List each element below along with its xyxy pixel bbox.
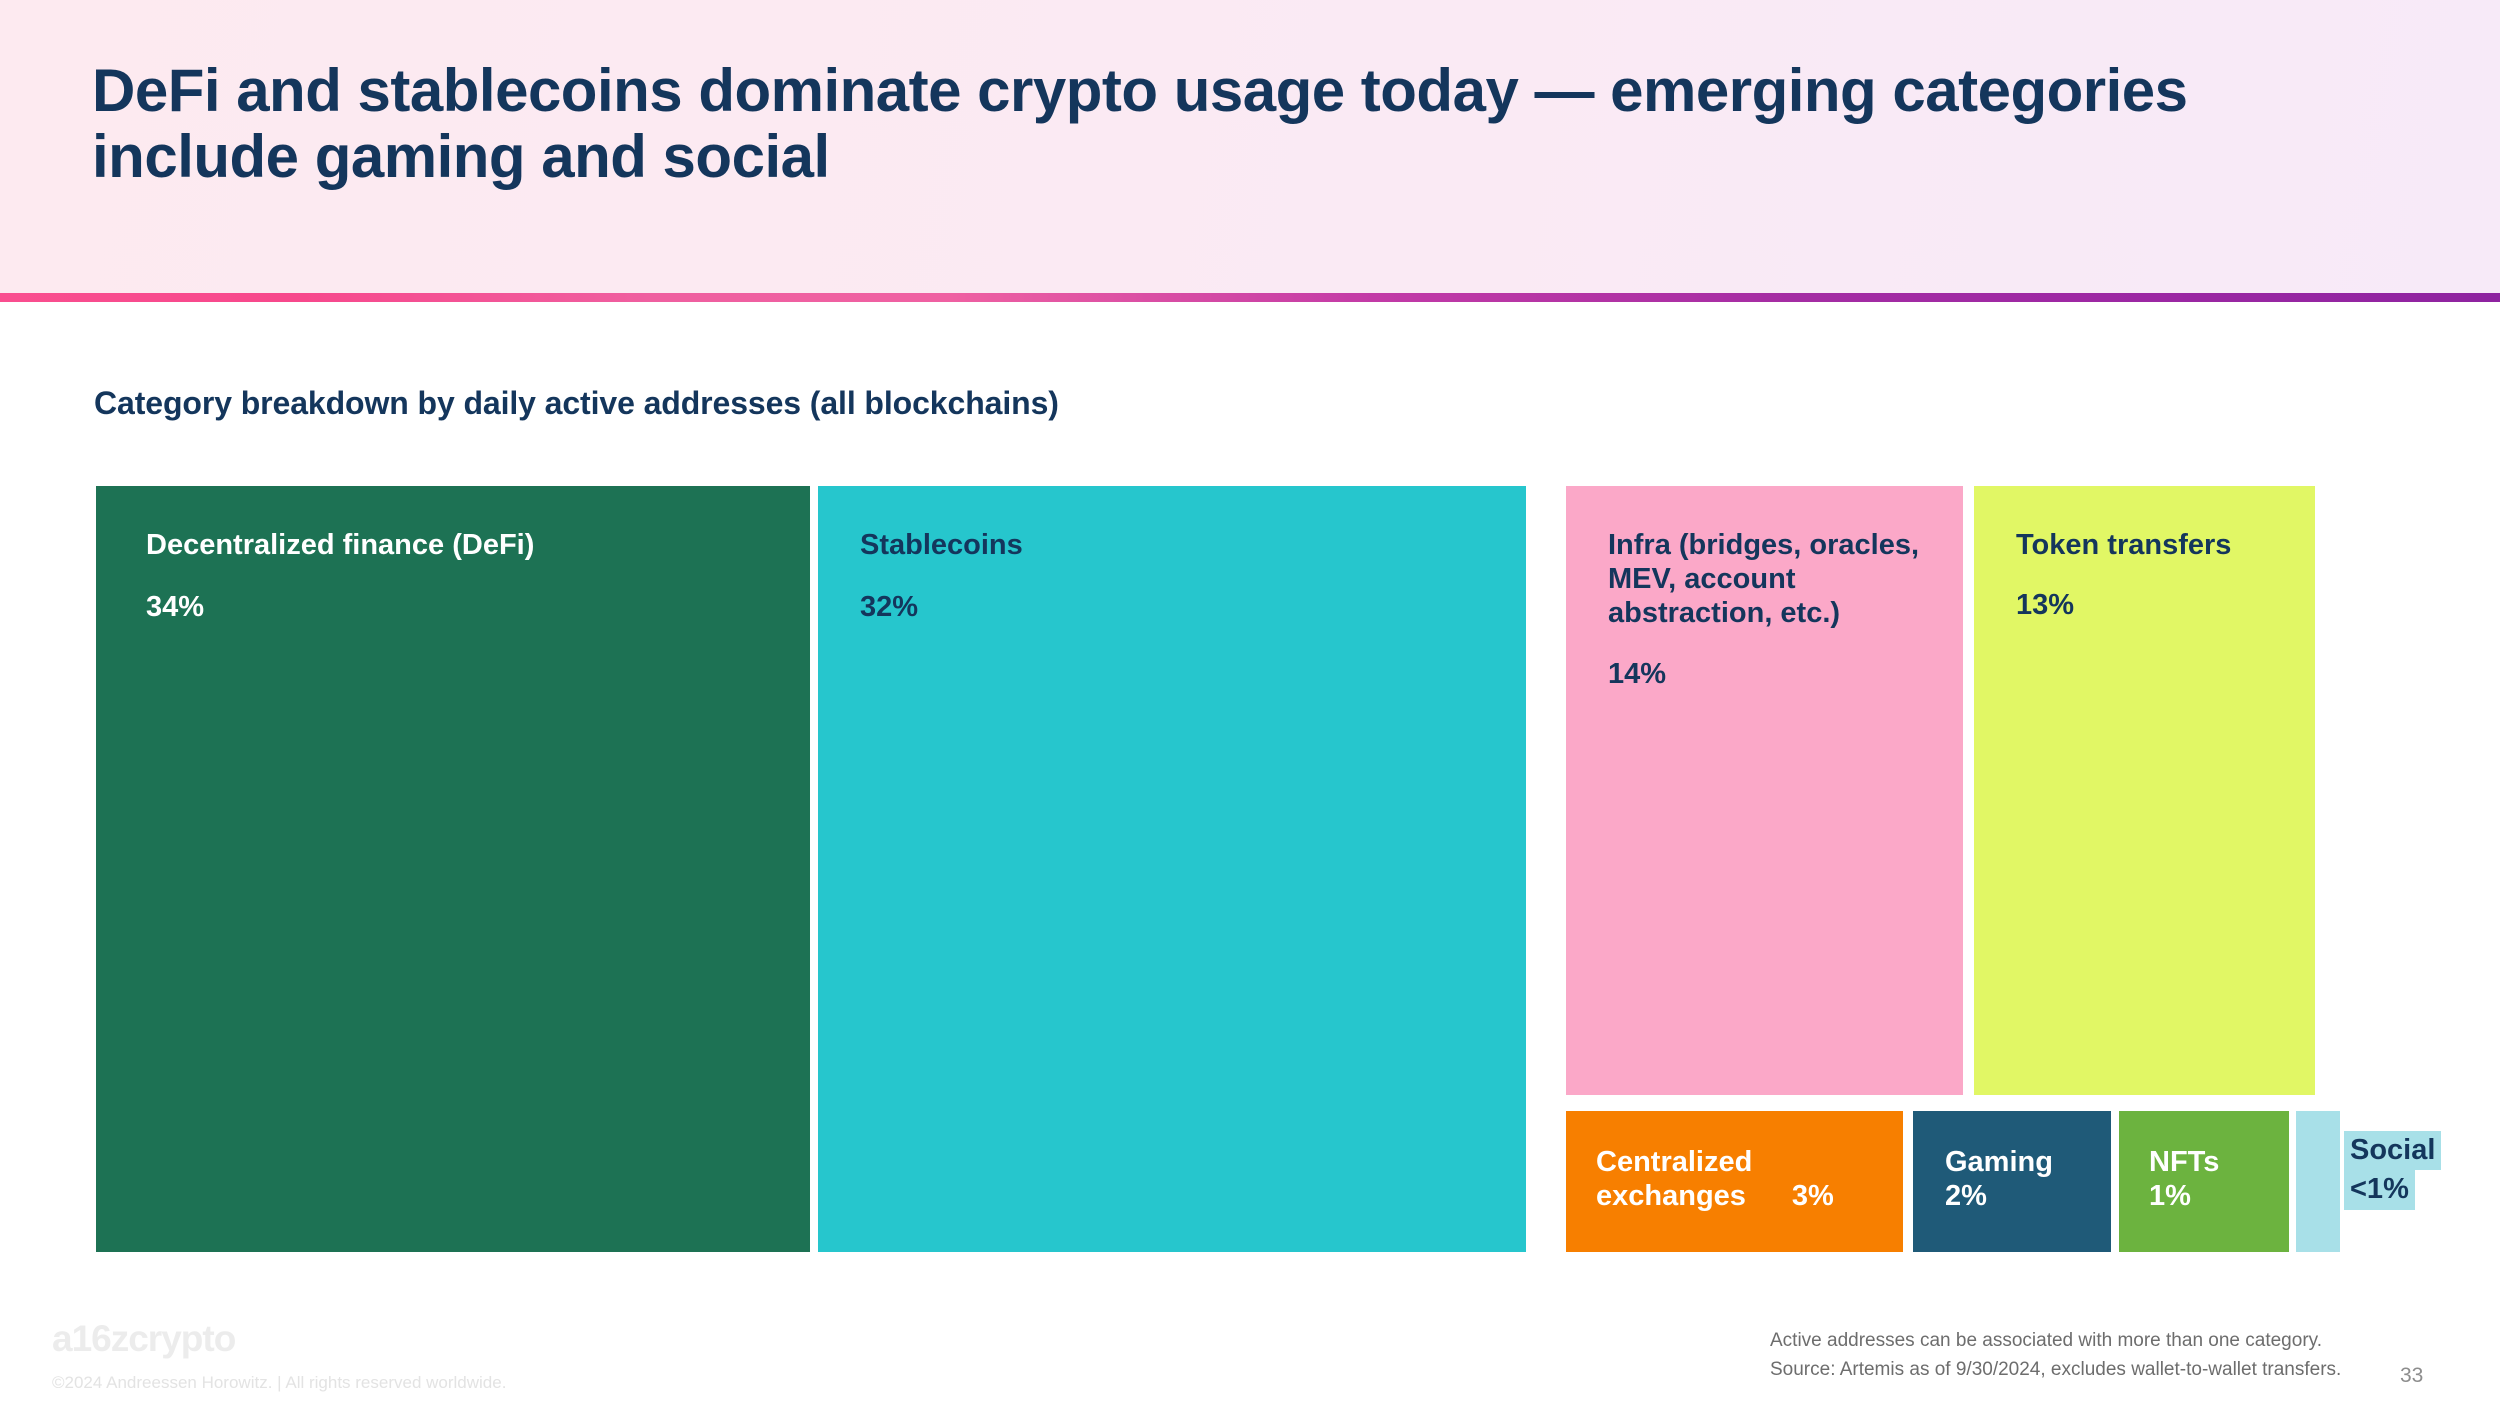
slide-header: DeFi and stablecoins dominate crypto usa…: [0, 0, 2500, 293]
treemap-tile-stablecoins[interactable]: Stablecoins 32%: [818, 486, 1526, 1252]
chart-subtitle: Category breakdown by daily active addre…: [94, 385, 1059, 422]
treemap-chart: Decentralized finance (DeFi) 34% Stablec…: [96, 486, 2315, 1252]
tile-value: 3%: [1792, 1179, 1834, 1213]
tile-value: 13%: [2016, 588, 2255, 622]
header-accent-divider: [0, 293, 2500, 302]
page-number: 33: [2400, 1364, 2423, 1388]
copyright-text: ©2024 Andreessen Horowitz. | All rights …: [52, 1373, 506, 1393]
tile-value: <1%: [2344, 1170, 2415, 1209]
tile-label: Stablecoins: [860, 528, 1514, 562]
footnote-line-1: Active addresses can be associated with …: [1770, 1326, 2341, 1355]
tile-value: 1%: [2149, 1179, 2281, 1213]
footnote-line-2: Source: Artemis as of 9/30/2024, exclude…: [1770, 1355, 2341, 1384]
treemap-tile-gaming[interactable]: Gaming 2%: [1913, 1111, 2111, 1252]
tile-label: NFTs: [2149, 1145, 2281, 1179]
tile-label-line2: exchanges: [1596, 1180, 1746, 1212]
treemap-tile-infra[interactable]: Infra (bridges, oracles, MEV, account ab…: [1566, 486, 1963, 1095]
tile-label: Social: [2344, 1131, 2441, 1170]
tile-label: Decentralized finance (DeFi): [146, 528, 798, 562]
treemap-tile-nfts[interactable]: NFTs 1%: [2119, 1111, 2289, 1252]
page-title: DeFi and stablecoins dominate crypto usa…: [92, 58, 2392, 190]
treemap-tile-social[interactable]: [2296, 1111, 2340, 1252]
tile-value: 32%: [860, 590, 1514, 624]
treemap-tile-token-transfers[interactable]: Token transfers 13%: [1974, 486, 2315, 1095]
tile-label: Centralized: [1596, 1145, 1895, 1179]
tile-value: 2%: [1945, 1179, 2103, 1213]
tile-label: Token transfers: [2016, 528, 2255, 562]
a16zcrypto-logo: a16zcrypto: [52, 1318, 235, 1360]
social-callout-label: Social <1%: [2336, 1127, 2449, 1220]
treemap-tile-defi[interactable]: Decentralized finance (DeFi) 34%: [96, 486, 810, 1252]
tile-value: 14%: [1608, 657, 1939, 691]
treemap-tile-centralized-exchanges[interactable]: Centralized exchanges3%: [1566, 1111, 1903, 1252]
tile-label: Infra (bridges, oracles, MEV, account ab…: [1608, 528, 1939, 631]
footnotes: Active addresses can be associated with …: [1770, 1326, 2341, 1385]
tile-label: Gaming: [1945, 1145, 2103, 1179]
tile-value: 34%: [146, 590, 798, 624]
